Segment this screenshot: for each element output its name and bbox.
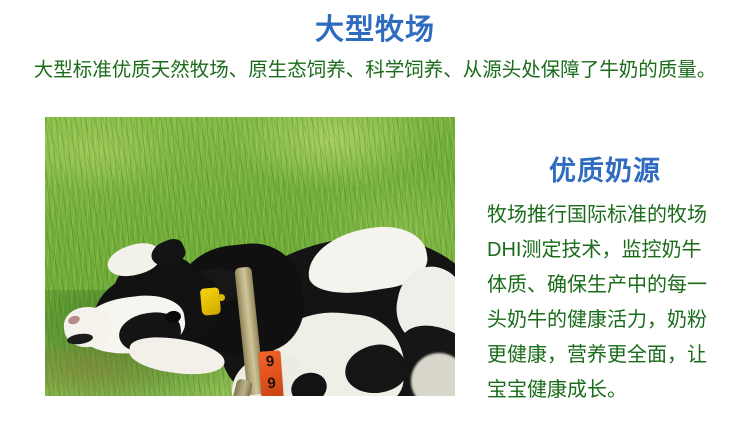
body-line: 宝宝健康成长。 bbox=[487, 373, 727, 408]
page-title: 大型牧场 bbox=[0, 13, 750, 47]
collar-tag-digit-bottom: 9 bbox=[260, 372, 283, 395]
section-title-quality-milk-source: 优质奶源 bbox=[480, 155, 730, 187]
body-line: 牧场推行国际标准的牧场 bbox=[487, 198, 727, 233]
ear-tag-pin bbox=[218, 294, 225, 301]
body-line: 更健康，营养更全面，让 bbox=[487, 338, 727, 373]
body-line: 体质、确保生产中的每一 bbox=[487, 268, 727, 303]
body-line: 头奶牛的健康活力，奶粉 bbox=[487, 303, 727, 338]
pasture-cow-photo: 9 9 bbox=[45, 117, 455, 396]
section-body-quality-milk-source: 牧场推行国际标准的牧场 DHI测定技术，监控奶牛 体质、确保生产中的每一 头奶牛… bbox=[487, 198, 727, 408]
page-subtitle: 大型标准优质天然牧场、原生态饲养、科学饲养、从源头处保障了牛奶的质量。 bbox=[0, 57, 750, 83]
photo-canvas: 9 9 bbox=[45, 117, 455, 396]
collar-number-tag: 9 9 bbox=[258, 350, 283, 396]
collar-tag-digit-top: 9 bbox=[258, 350, 281, 373]
ear-tag-icon bbox=[200, 287, 221, 316]
body-line: DHI测定技术，监控奶牛 bbox=[487, 233, 727, 268]
promo-banner-page: 大型牧场 大型标准优质天然牧场、原生态饲养、科学饲养、从源头处保障了牛奶的质量。 bbox=[0, 0, 750, 434]
